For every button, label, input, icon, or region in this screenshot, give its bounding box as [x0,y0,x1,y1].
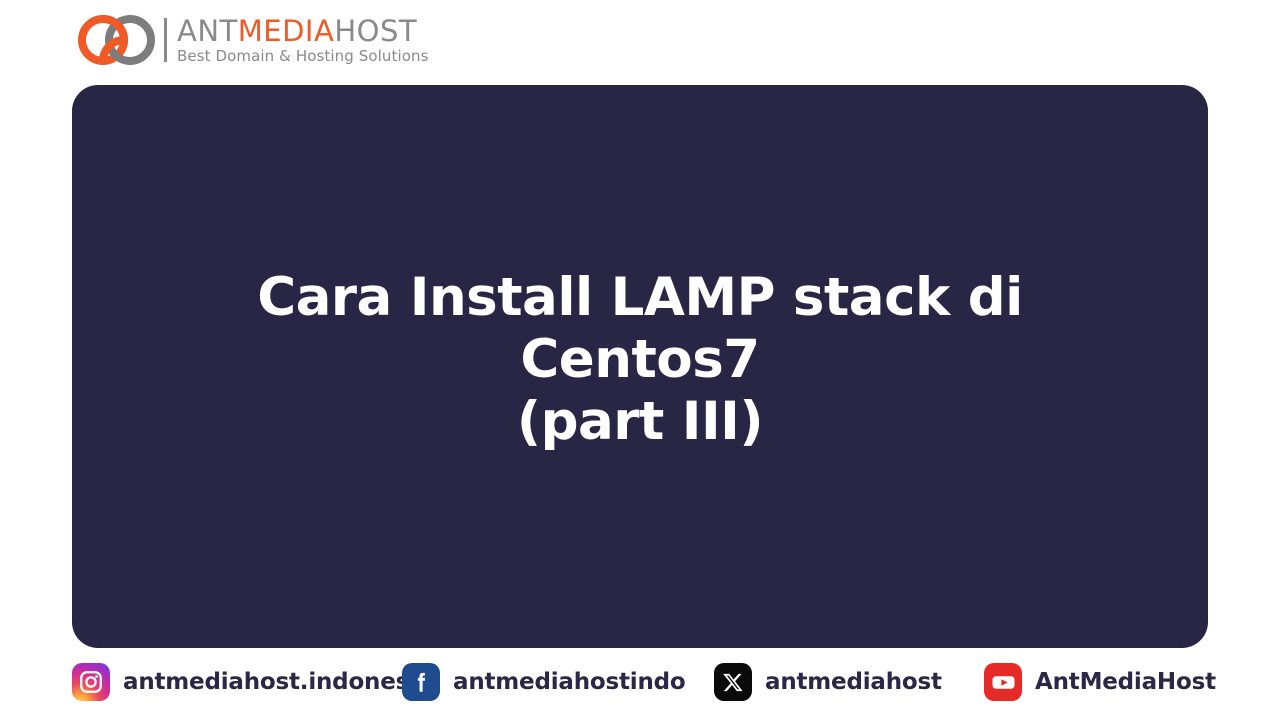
social-link-instagram[interactable]: antmediahost.indonesia [72,660,402,704]
brand-divider [164,18,167,62]
brand-text: ANTMEDIAHOST Best Domain & Hosting Solut… [177,16,429,65]
social-links-row: antmediahost.indonesia antmediahostindo … [72,660,1208,704]
social-handle-facebook: antmediahostindo [453,669,686,695]
youtube-icon [984,663,1022,701]
brand-name-part-host: HOST [334,14,417,48]
infinity-rings-logo-icon [72,14,160,66]
x-twitter-icon [714,663,752,701]
hero-card: Cara Install LAMP stack di Centos7 (part… [72,85,1208,648]
slide-root: ANTMEDIAHOST Best Domain & Hosting Solut… [0,0,1280,720]
facebook-icon [402,663,440,701]
social-handle-youtube: AntMediaHost [1035,669,1216,695]
instagram-icon [72,663,110,701]
social-handle-instagram: antmediahost.indonesia [123,669,432,695]
brand-name-part-media: MEDIA [238,14,335,48]
hero-title: Cara Install LAMP stack di Centos7 (part… [120,267,1160,453]
social-link-youtube[interactable]: AntMediaHost [984,660,1208,704]
social-link-facebook[interactable]: antmediahostindo [402,660,714,704]
social-handle-x-twitter: antmediahost [765,669,942,695]
brand-logo[interactable]: ANTMEDIAHOST Best Domain & Hosting Solut… [72,12,429,68]
brand-name-part-ant: ANT [177,14,238,48]
brand-name: ANTMEDIAHOST [177,16,429,46]
brand-tagline: Best Domain & Hosting Solutions [177,47,429,65]
social-link-x-twitter[interactable]: antmediahost [714,660,984,704]
